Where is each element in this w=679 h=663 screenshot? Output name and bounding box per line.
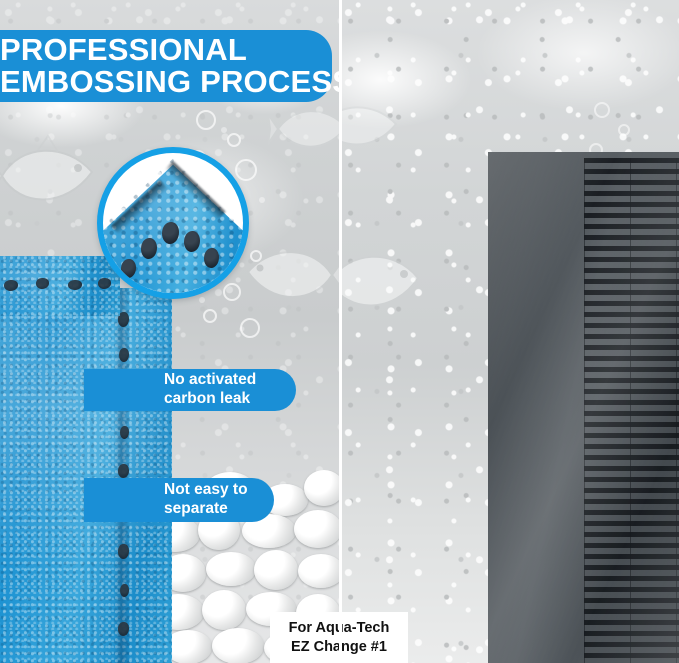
left-headline-line2: EMBOSSING PROCESS — [0, 66, 339, 98]
dark-filter-cartridge — [488, 152, 679, 663]
fish-icon — [0, 128, 106, 224]
magnifier-circle-icon — [97, 147, 249, 299]
product-feature-infographic: PROFESSIONAL EMBOSSING PROCESS No activa… — [0, 0, 679, 663]
callout-line2: carbon leak — [164, 390, 256, 409]
callout-no-activated-carbon-leak: No activated carbon leak — [84, 369, 296, 411]
fish-icon — [340, 92, 410, 162]
callout-line2: separate — [164, 500, 248, 519]
callout-line1: No activated — [164, 371, 256, 390]
left-panel-headline: PROFESSIONAL EMBOSSING PROCESS — [0, 30, 332, 102]
left-headline-line1: PROFESSIONAL — [0, 34, 339, 66]
callout-not-easy-to-separate: Not easy to separate — [84, 478, 274, 522]
blue-foam-filter-pad — [0, 288, 172, 663]
panel-divider — [339, 0, 342, 663]
blue-foam-edge-strip — [0, 256, 120, 316]
right-feature-panel: FRONT GRID DESIGN — [340, 0, 679, 663]
left-feature-panel: PROFESSIONAL EMBOSSING PROCESS No activa… — [0, 0, 339, 663]
fish-icon — [340, 236, 430, 328]
callout-line1: Not easy to — [164, 481, 248, 500]
